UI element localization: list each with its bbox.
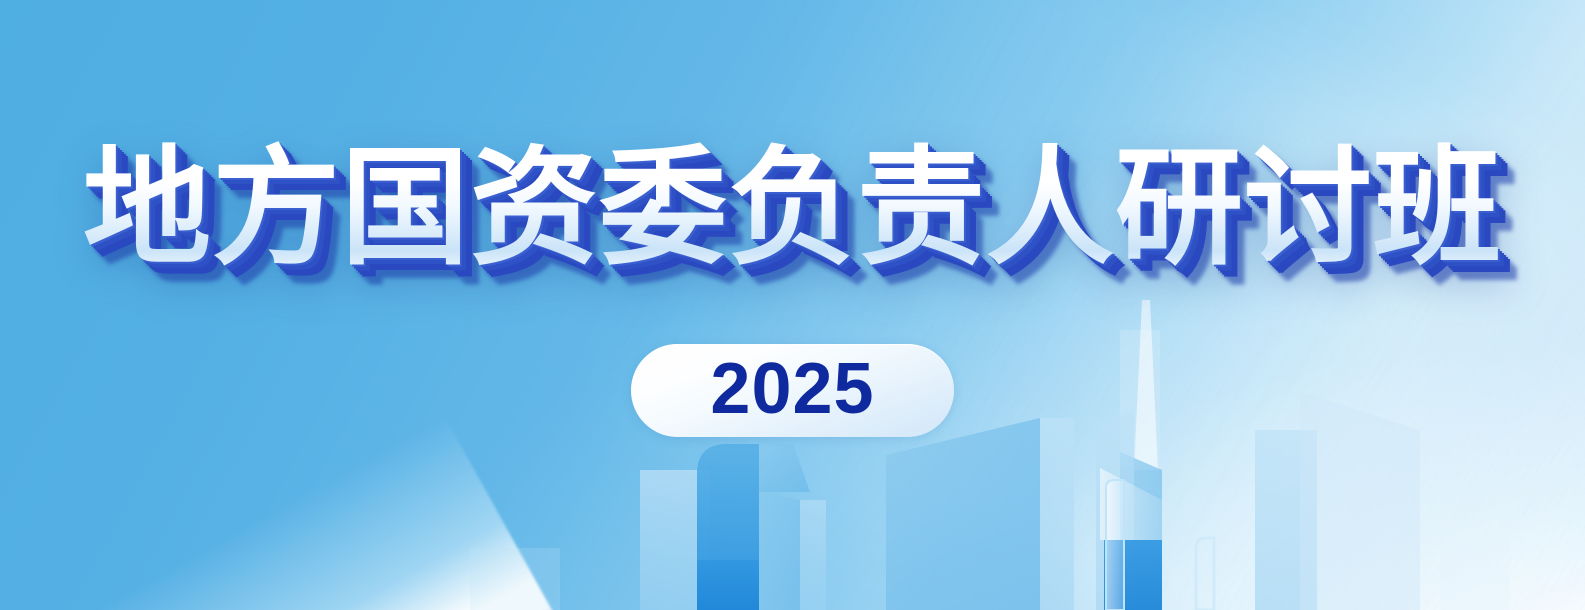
conference-banner: 地方国资委负责人研讨班 2025 (0, 0, 1585, 610)
year-badge-label: 2025 (710, 353, 874, 425)
page-title: 地方国资委负责人研讨班 (83, 140, 1502, 278)
year-badge: 2025 (631, 344, 954, 437)
city-skyline-icon (0, 0, 1585, 610)
light-sweep-top-right-icon (878, 0, 1585, 610)
light-sweep-center-icon (559, 0, 1585, 610)
year-badge-container: 2025 (0, 344, 1585, 437)
banner-title-container: 地方国资委负责人研讨班 (0, 140, 1585, 278)
light-sweep-bottom-right-icon (1088, 493, 1585, 610)
light-sweep-bottom-left-icon (0, 416, 590, 610)
